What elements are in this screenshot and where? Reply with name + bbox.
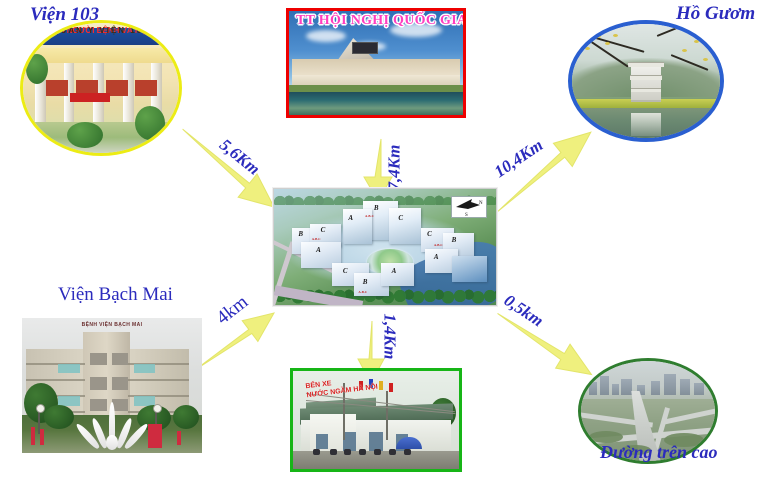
vien-bach-mai-art: BỆNH VIỆN BẠCH MAI	[22, 318, 202, 453]
ben-xe-art: BẾN XE NƯỚC NGẦM HÀ NỘI	[293, 371, 459, 469]
vien-103-art: ...A VÌ NGƯỜI BỆNH VÀ HỌC... QUÂN Y VIỆN…	[23, 23, 179, 153]
label-ho-guom: Hồ Gươm	[676, 4, 755, 23]
svg-text:N: N	[479, 201, 483, 206]
vien-bach-mai-sign-text: BỆNH VIỆN BẠCH MAI	[22, 322, 202, 328]
photo-vien-103[interactable]: ...A VÌ NGƯỜI BỆNH VÀ HỌC... QUÂN Y VIỆN…	[20, 20, 182, 156]
svg-text:S: S	[465, 213, 468, 217]
photo-ho-guom[interactable]	[568, 20, 724, 142]
photo-ben-xe-nuoc-ngam[interactable]: BẾN XE NƯỚC NGẦM HÀ NỘI	[290, 368, 462, 472]
center-project-photo[interactable]: B A C A-B-C B C A A-B-C C B A A-B-C	[273, 188, 497, 306]
distance-label-ben-xe: 1,4Km	[382, 314, 399, 360]
distance-label-tt-hoi-nghi: 7,4Km	[386, 145, 403, 191]
label-vien-bach-mai: Viện Bạch Mai	[58, 285, 173, 304]
photo-tt-hoi-nghi-quoc-gia[interactable]: TT HỘI NGHỊ QUỐC GIA	[286, 8, 466, 118]
diagram-canvas: 5,6Km 7,4Km 10,4Km 4km 1,4Km 0,5km B A C…	[0, 0, 768, 480]
center-aerial-art: B A C A-B-C B C A A-B-C C B A A-B-C	[274, 189, 496, 305]
label-duong-tren-cao: Đường trên cao	[600, 443, 717, 461]
arrow-to-vien-103	[170, 118, 285, 220]
tt-hoi-nghi-title-text: TT HỘI NGHỊ QUỐC GIA	[296, 14, 456, 28]
compass-icon: N S	[451, 196, 487, 218]
ho-guom-art	[572, 24, 720, 138]
photo-vien-bach-mai[interactable]: BỆNH VIỆN BẠCH MAI	[22, 318, 202, 453]
lotus-statue	[90, 402, 133, 448]
